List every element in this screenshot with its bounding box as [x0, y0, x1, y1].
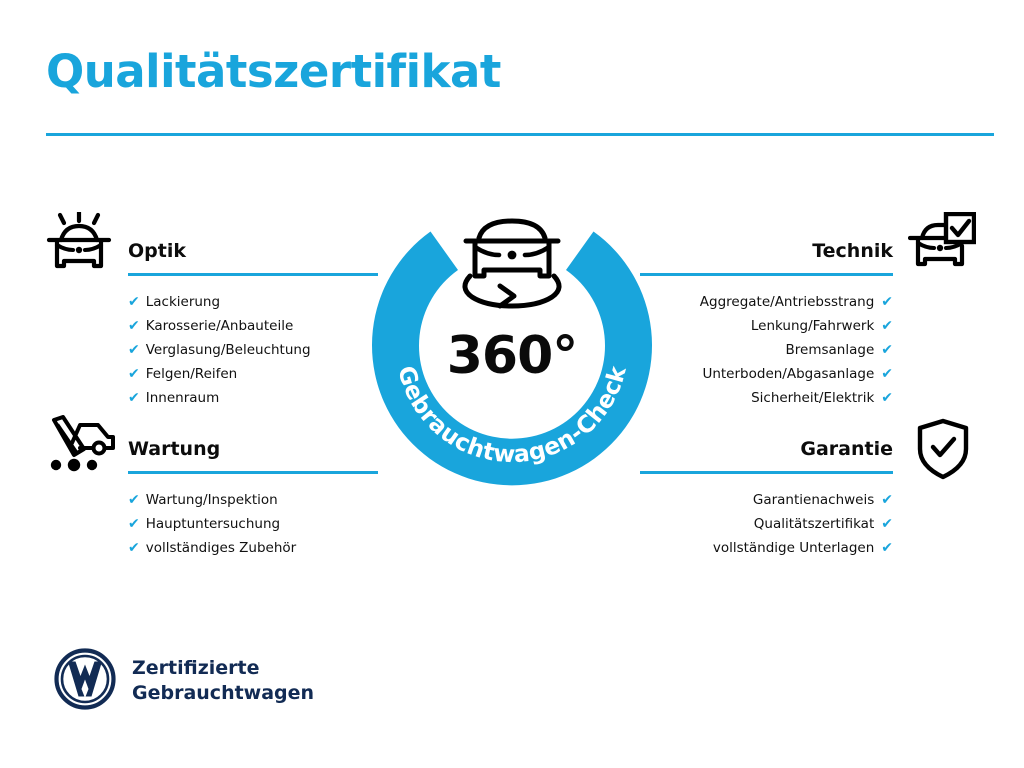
- list-item: ✔ vollständiges Zubehör: [128, 536, 378, 560]
- car-front-checkbox-icon: [908, 212, 976, 278]
- check-icon: ✔: [128, 488, 140, 512]
- list-item: Sicherheit/Elektrik ✔: [640, 386, 893, 410]
- section-technik-title: Technik: [640, 238, 893, 264]
- check-icon: ✔: [128, 536, 140, 560]
- list-item-label: Lackierung: [146, 290, 220, 314]
- list-item: Unterboden/Abgasanlage ✔: [640, 362, 893, 386]
- list-item: Bremsanlage ✔: [640, 338, 893, 362]
- check-icon: ✔: [128, 290, 140, 314]
- check-icon: ✔: [128, 338, 140, 362]
- list-item-label: Verglasung/Beleuchtung: [146, 338, 311, 362]
- section-garantie-list: Garantienachweis ✔ Qualitätszertifikat ✔…: [640, 488, 893, 560]
- list-item-label: Sicherheit/Elektrik: [751, 386, 874, 410]
- vw-logo: [54, 648, 116, 714]
- section-wartung: Wartung ✔ Wartung/Inspektion ✔ Hauptunte…: [128, 436, 378, 560]
- check-icon: ✔: [128, 314, 140, 338]
- check-icon: ✔: [128, 512, 140, 536]
- list-item-label: Aggregate/Antriebsstrang: [700, 290, 875, 314]
- section-wartung-title: Wartung: [128, 436, 378, 462]
- section-garantie-header: Garantie: [640, 436, 893, 474]
- section-technik-list: Aggregate/Antriebsstrang ✔ Lenkung/Fahrw…: [640, 290, 893, 410]
- list-item: ✔ Wartung/Inspektion: [128, 488, 378, 512]
- car-service-pencil-icon: [46, 415, 116, 477]
- footer-brand-text: Zertifizierte Gebrauchtwagen: [132, 656, 314, 706]
- list-item: ✔ Lackierung: [128, 290, 378, 314]
- check-icon: ✔: [881, 386, 893, 410]
- section-wartung-divider: [128, 471, 378, 474]
- list-item: Aggregate/Antriebsstrang ✔: [640, 290, 893, 314]
- shield-check-icon: [916, 418, 970, 484]
- list-item: ✔ Innenraum: [128, 386, 378, 410]
- section-optik-divider: [128, 273, 378, 276]
- list-item-label: vollständiges Zubehör: [146, 536, 296, 560]
- check-icon: ✔: [881, 536, 893, 560]
- section-wartung-list: ✔ Wartung/Inspektion ✔ Hauptuntersuchung…: [128, 488, 378, 560]
- section-garantie-divider: [640, 471, 893, 474]
- list-item: Qualitätszertifikat ✔: [640, 512, 893, 536]
- section-technik-header: Technik: [640, 238, 893, 276]
- section-optik-list: ✔ Lackierung ✔ Karosserie/Anbauteile ✔ V…: [128, 290, 378, 410]
- check-icon: ✔: [128, 386, 140, 410]
- list-item-label: Lenkung/Fahrwerk: [751, 314, 874, 338]
- check-icon: ✔: [881, 290, 893, 314]
- list-item-label: Karosserie/Anbauteile: [146, 314, 294, 338]
- section-technik-divider: [640, 273, 893, 276]
- section-optik-header: Optik: [128, 238, 378, 276]
- page-title: Qualitätszertifikat: [46, 48, 501, 95]
- list-item-label: Qualitätszertifikat: [754, 512, 875, 536]
- check-icon: ✔: [881, 314, 893, 338]
- check-icon: ✔: [881, 488, 893, 512]
- list-item-label: Innenraum: [146, 386, 220, 410]
- list-item: Lenkung/Fahrwerk ✔: [640, 314, 893, 338]
- section-optik: Optik ✔ Lackierung ✔ Karosserie/Anbautei…: [128, 238, 378, 410]
- list-item-label: Wartung/Inspektion: [146, 488, 278, 512]
- list-item: ✔ Verglasung/Beleuchtung: [128, 338, 378, 362]
- list-item: vollständige Unterlagen ✔: [640, 536, 893, 560]
- footer-brand-logo: Zertifizierte Gebrauchtwagen: [54, 648, 314, 714]
- list-item-label: Garantienachweis: [753, 488, 874, 512]
- section-optik-title: Optik: [128, 238, 378, 264]
- section-technik: Technik Aggregate/Antriebsstrang ✔ Lenku…: [640, 238, 893, 410]
- list-item: Garantienachweis ✔: [640, 488, 893, 512]
- list-item-label: Bremsanlage: [786, 338, 875, 362]
- badge-center-label: 360°: [372, 326, 652, 386]
- list-item: ✔ Hauptuntersuchung: [128, 512, 378, 536]
- check-icon: ✔: [881, 338, 893, 362]
- list-item: ✔ Felgen/Reifen: [128, 362, 378, 386]
- check-icon: ✔: [128, 362, 140, 386]
- list-item-label: Felgen/Reifen: [146, 362, 238, 386]
- list-item-label: Hauptuntersuchung: [146, 512, 280, 536]
- check-icon: ✔: [881, 362, 893, 386]
- list-item-label: vollständige Unterlagen: [713, 536, 874, 560]
- list-item-label: Unterboden/Abgasanlage: [702, 362, 874, 386]
- section-garantie-title: Garantie: [640, 436, 893, 462]
- car-rotate-360-icon: [465, 221, 559, 306]
- badge-360-check: Gebrauchtwagen-Check 360°: [372, 196, 652, 486]
- check-icon: ✔: [881, 512, 893, 536]
- section-garantie: Garantie Garantienachweis ✔ Qualitätszer…: [640, 436, 893, 560]
- list-item: ✔ Karosserie/Anbauteile: [128, 314, 378, 338]
- header-divider: [46, 133, 994, 136]
- section-wartung-header: Wartung: [128, 436, 378, 474]
- car-front-shine-icon: [46, 212, 112, 280]
